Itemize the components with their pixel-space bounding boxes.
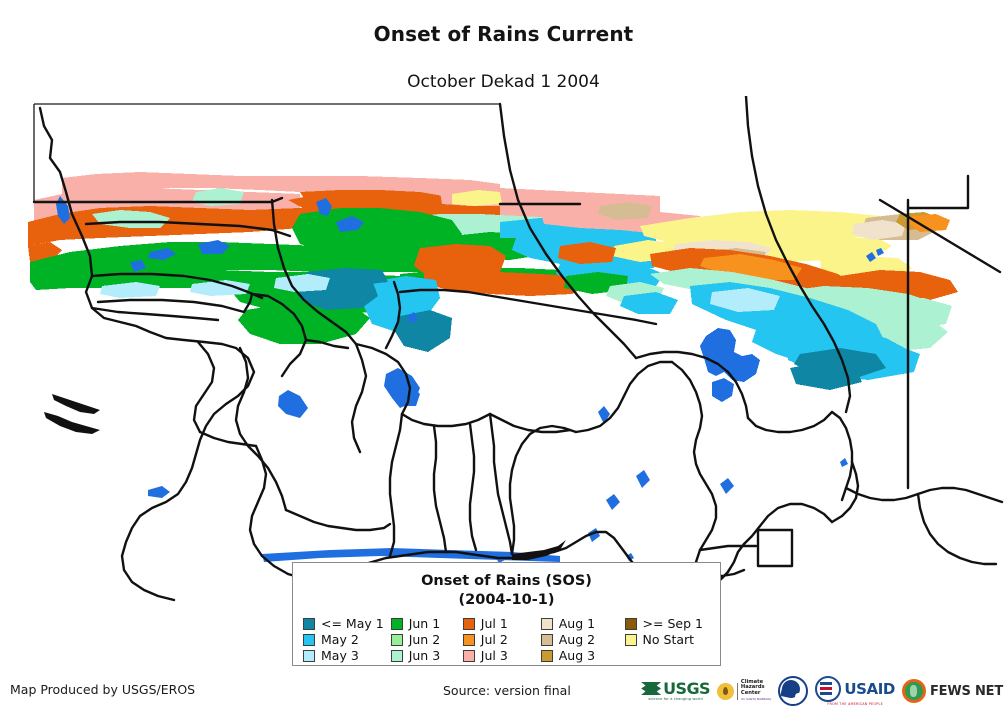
legend-column-jul: Jul 1 Jul 2 Jul 3 <box>463 616 539 664</box>
legend-label: Jun 1 <box>409 617 440 630</box>
legend-title: Onset of Rains (SOS) <box>293 572 720 591</box>
fewsnet-logo-text: FEWS NET <box>930 684 1003 699</box>
legend-column-sep: >= Sep 1 No Start <box>625 616 718 664</box>
usgs-mark-icon <box>641 682 661 695</box>
legend-label: <= May 1 <box>321 617 384 630</box>
legend-item[interactable]: Aug 3 <box>541 648 623 663</box>
usgs-tagline: science for a changing world <box>648 697 703 701</box>
noaa-seagull-icon <box>778 676 808 706</box>
globe-icon <box>902 679 926 703</box>
usgs-logo-text: USGS <box>663 681 710 696</box>
usaid-seal-icon <box>815 676 841 702</box>
legend-item[interactable]: Jun 3 <box>391 648 461 663</box>
legend-item[interactable]: Aug 1 <box>541 616 623 631</box>
legend-label: Aug 3 <box>559 649 595 662</box>
legend-label: Jul 1 <box>481 617 508 630</box>
legend-item[interactable]: Jul 2 <box>463 632 539 647</box>
chc-tagline: UC SANTA BARBARA <box>741 697 771 702</box>
noaa-logo[interactable] <box>778 676 808 706</box>
legend-swatch-aug-2 <box>541 634 553 646</box>
legend-item[interactable]: Jun 2 <box>391 632 461 647</box>
legend-label: May 2 <box>321 633 359 646</box>
legend-label: No Start <box>643 633 695 646</box>
legend-swatch-may-1 <box>303 618 315 630</box>
legend-column-jun: Jun 1 Jun 2 Jun 3 <box>391 616 461 664</box>
legend-swatch-jun-1 <box>391 618 403 630</box>
legend-item[interactable]: >= Sep 1 <box>625 616 718 631</box>
legend-item[interactable]: No Start <box>625 632 718 647</box>
water-drop-icon <box>717 683 734 700</box>
chc-logo[interactable]: Climate Hazards Center UC SANTA BARBARA <box>717 676 771 706</box>
legend-label: Jun 3 <box>409 649 440 662</box>
usaid-logo-text: USAID <box>844 680 895 698</box>
legend-label: Aug 2 <box>559 633 595 646</box>
map-legend: Onset of Rains (SOS) (2004-10-1) <= May … <box>292 562 721 666</box>
legend-item[interactable]: May 2 <box>303 632 389 647</box>
legend-swatch-jun-3 <box>391 650 403 662</box>
legend-item[interactable]: May 3 <box>303 648 389 663</box>
legend-item[interactable]: Jul 1 <box>463 616 539 631</box>
legend-item[interactable]: Jul 3 <box>463 648 539 663</box>
chc-line-3: Center <box>741 691 771 696</box>
legend-swatch-aug-3 <box>541 650 553 662</box>
footer-source: Source: version final <box>443 683 571 698</box>
usaid-logo[interactable]: USAID FROM THE AMERICAN PEOPLE <box>815 676 895 706</box>
divider <box>737 683 738 700</box>
legend-columns: <= May 1 May 2 May 3 Jun 1 Jun 2 J <box>293 616 720 664</box>
legend-label: Jun 2 <box>409 633 440 646</box>
legend-swatch-jul-3 <box>463 650 475 662</box>
page-title: Onset of Rains Current <box>0 22 1007 46</box>
legend-date: (2004-10-1) <box>293 591 720 610</box>
usaid-tagline: FROM THE AMERICAN PEOPLE <box>827 702 883 706</box>
page-subtitle: October Dekad 1 2004 <box>0 72 1007 92</box>
legend-item[interactable]: Aug 2 <box>541 632 623 647</box>
legend-swatch-no-start <box>625 634 637 646</box>
legend-column-aug: Aug 1 Aug 2 Aug 3 <box>541 616 623 664</box>
legend-label: >= Sep 1 <box>643 617 703 630</box>
legend-label: May 3 <box>321 649 359 662</box>
fewsnet-logo[interactable]: FEWS NET <box>902 676 1003 706</box>
usgs-logo[interactable]: USGS science for a changing world <box>641 676 710 706</box>
footer-logos: USGS science for a changing world Climat… <box>641 673 1003 709</box>
legend-label: Jul 2 <box>481 633 508 646</box>
legend-swatch-jul-1 <box>463 618 475 630</box>
legend-swatch-aug-1 <box>541 618 553 630</box>
legend-item[interactable]: Jun 1 <box>391 616 461 631</box>
legend-column-may: <= May 1 May 2 May 3 <box>303 616 389 664</box>
footer-producer: Map Produced by USGS/EROS <box>10 682 195 697</box>
legend-label: Jul 3 <box>481 649 508 662</box>
legend-label: Aug 1 <box>559 617 595 630</box>
legend-swatch-jun-2 <box>391 634 403 646</box>
legend-swatch-sep-1 <box>625 618 637 630</box>
legend-swatch-jul-2 <box>463 634 475 646</box>
legend-swatch-may-3 <box>303 650 315 662</box>
legend-item[interactable]: <= May 1 <box>303 616 389 631</box>
legend-swatch-may-2 <box>303 634 315 646</box>
